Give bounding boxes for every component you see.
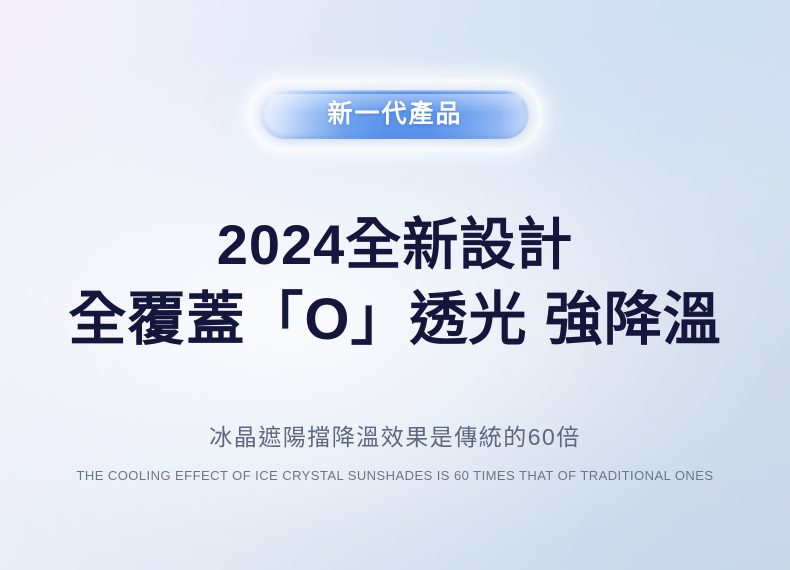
badge-pill[interactable]: 新一代產品 [261, 90, 529, 139]
badge-label: 新一代產品 [327, 102, 462, 127]
page-title: 2024全新設計 全覆蓋「O」透光 強降溫 [68, 215, 721, 352]
hero-banner: 新一代產品 2024全新設計 全覆蓋「O」透光 強降溫 冰晶遮陽擋降溫效果是傳統… [0, 0, 790, 570]
subtitle-english: THE COOLING EFFECT OF ICE CRYSTAL SUNSHA… [76, 468, 713, 483]
subtitle-chinese: 冰晶遮陽擋降溫效果是傳統的60倍 [209, 418, 581, 452]
new-generation-badge[interactable]: 新一代產品 [261, 90, 529, 139]
headline-line-1: 2024全新設計 [68, 215, 721, 275]
hero-content: 新一代產品 2024全新設計 全覆蓋「O」透光 強降溫 冰晶遮陽擋降溫效果是傳統… [0, 0, 790, 570]
headline-line-2: 全覆蓋「O」透光 強降溫 [68, 289, 721, 352]
